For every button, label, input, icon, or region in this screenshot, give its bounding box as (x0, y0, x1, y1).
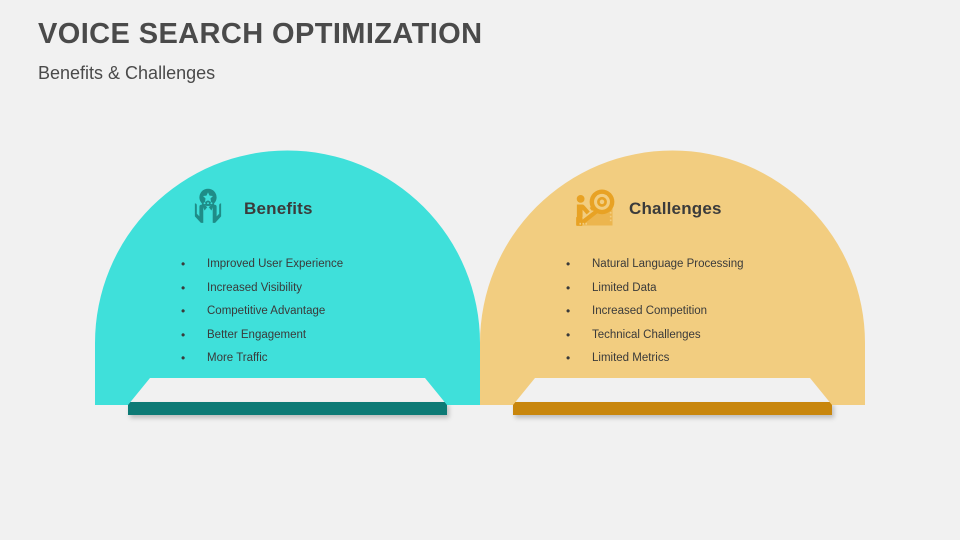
bullet-dot-icon: • (181, 329, 207, 341)
bullet-list-benefits: • Improved User Experience • Increased V… (129, 258, 446, 364)
list-item: • Increased Visibility (181, 282, 446, 294)
list-item: • Limited Metrics (566, 352, 831, 364)
bullet-dot-icon: • (566, 352, 592, 364)
bullet-dot-icon: • (566, 258, 592, 270)
list-item-label: Improved User Experience (207, 258, 343, 270)
page-title: VOICE SEARCH OPTIMIZATION (38, 18, 482, 51)
slide-canvas: VOICE SEARCH OPTIMIZATION Benefits & Cha… (0, 0, 960, 540)
list-item: • Competitive Advantage (181, 305, 446, 317)
list-item-label: Limited Data (592, 282, 657, 294)
panel-challenges[interactable]: Challenges • Natural Language Processing… (480, 133, 865, 415)
list-item-label: Technical Challenges (592, 329, 701, 341)
bullet-dot-icon: • (181, 305, 207, 317)
list-item: • Improved User Experience (181, 258, 446, 270)
panel-content-challenges: Challenges • Natural Language Processing… (480, 133, 865, 405)
list-item-label: Increased Visibility (207, 282, 302, 294)
list-item: • Increased Competition (566, 305, 831, 317)
list-item: • Natural Language Processing (566, 258, 831, 270)
hands-holding-star-badge-icon (184, 185, 232, 233)
panel-content-benefits: Benefits • Improved User Experience • In… (95, 133, 480, 405)
slide-header: VOICE SEARCH OPTIMIZATION Benefits & Cha… (38, 18, 482, 85)
person-pushing-gear-uphill-icon (569, 185, 617, 233)
list-item: • Technical Challenges (566, 329, 831, 341)
list-item-label: Competitive Advantage (207, 305, 325, 317)
panel-header-challenges: Challenges (514, 185, 831, 233)
panel-heading-challenges: Challenges (629, 199, 722, 219)
panel-heading-benefits: Benefits (244, 199, 313, 219)
page-subtitle: Benefits & Challenges (38, 63, 482, 85)
bullet-dot-icon: • (181, 282, 207, 294)
bullet-dot-icon: • (566, 282, 592, 294)
list-item-label: Natural Language Processing (592, 258, 744, 270)
list-item-label: Better Engagement (207, 329, 306, 341)
list-item-label: Limited Metrics (592, 352, 669, 364)
bullet-dot-icon: • (181, 352, 207, 364)
list-item: • Better Engagement (181, 329, 446, 341)
list-item: • More Traffic (181, 352, 446, 364)
panel-header-benefits: Benefits (129, 185, 446, 233)
list-item-label: Increased Competition (592, 305, 707, 317)
bullet-list-challenges: • Natural Language Processing • Limited … (514, 258, 831, 364)
bullet-dot-icon: • (181, 258, 207, 270)
bullet-dot-icon: • (566, 305, 592, 317)
panel-benefits[interactable]: Benefits • Improved User Experience • In… (95, 133, 480, 415)
list-item: • Limited Data (566, 282, 831, 294)
bullet-dot-icon: • (566, 329, 592, 341)
list-item-label: More Traffic (207, 352, 268, 364)
